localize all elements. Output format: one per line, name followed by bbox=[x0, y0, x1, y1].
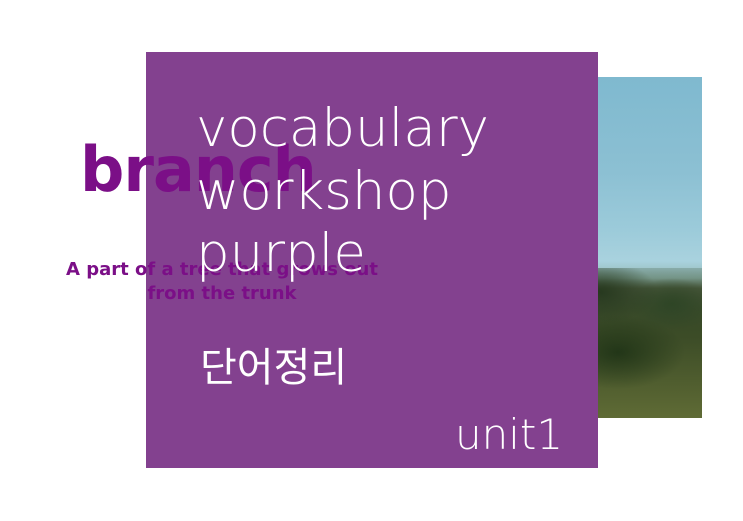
poster-canvas: branch A part of a tree that grows out f… bbox=[0, 0, 743, 521]
purple-photo-overlay bbox=[402, 77, 598, 418]
